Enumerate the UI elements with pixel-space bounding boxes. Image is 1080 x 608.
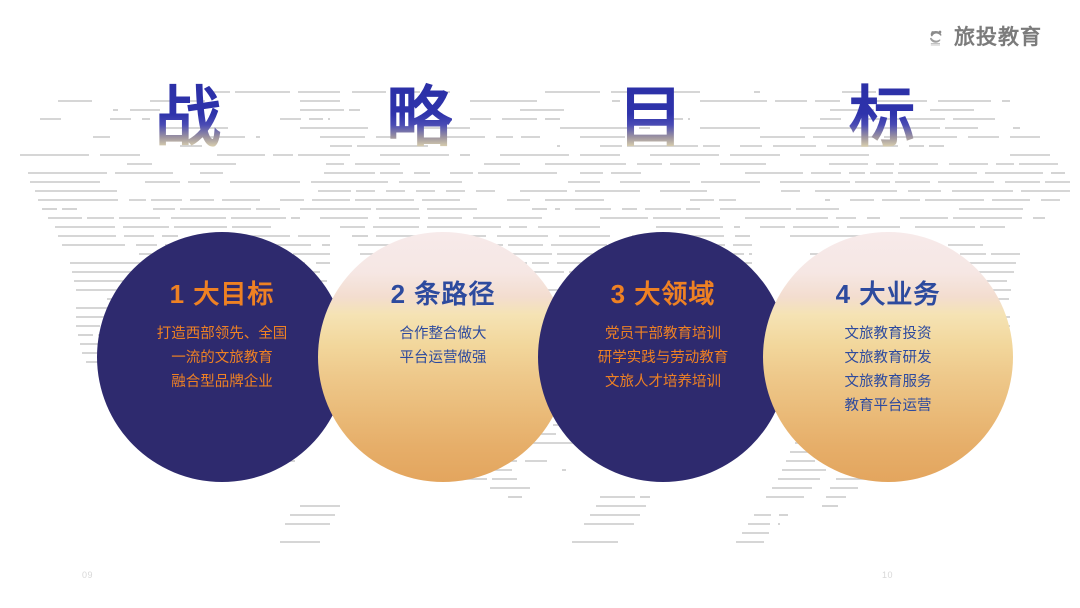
circle-card-1[interactable]: 1 大目标 打造西部领先、全国 一流的文旅教育 融合型品牌企业 (97, 232, 347, 482)
circle-2-title: 2 条路径 (391, 280, 496, 310)
page-title: 战 略 目 标 (155, 78, 915, 158)
circle-2-line-1: 合作整合做大 (400, 322, 487, 346)
circle-1-line-3: 融合型品牌企业 (157, 370, 288, 394)
circle-4-line-1: 文旅教育投资 (845, 322, 932, 346)
circle-3-line-3: 文旅人才培养培训 (598, 370, 729, 394)
circle-3-lines: 党员干部教育培训 研学实践与劳动教育 文旅人才培养培训 (598, 322, 729, 394)
circle-card-2[interactable]: 2 条路径 合作整合做大 平台运营做强 (318, 232, 568, 482)
slide-canvas: 旅投教育 战 略 目 标 1 大目标 打造西部领先、全国 一流的文旅教育 融合型… (0, 0, 1080, 608)
circle-2-lines: 合作整合做大 平台运营做强 (400, 322, 487, 370)
circle-1-title: 1 大目标 (170, 280, 275, 310)
brand-logo: 旅投教育 (927, 27, 1042, 48)
title-char-1: 战 (155, 78, 221, 156)
circle-4-lines: 文旅教育投资 文旅教育研发 文旅教育服务 教育平台运营 (845, 322, 932, 418)
circle-1-line-1: 打造西部领先、全国 (157, 322, 288, 346)
circle-3-title: 3 大领域 (611, 280, 716, 310)
circle-1-line-2: 一流的文旅教育 (157, 346, 288, 370)
circle-4-line-2: 文旅教育研发 (845, 346, 932, 370)
circle-4-line-4: 教育平台运营 (845, 394, 932, 418)
circle-card-4[interactable]: 4 大业务 文旅教育投资 文旅教育研发 文旅教育服务 教育平台运营 (763, 232, 1013, 482)
title-char-2: 略 (386, 78, 452, 156)
circle-4-line-3: 文旅教育服务 (845, 370, 932, 394)
circle-4-title: 4 大业务 (836, 280, 941, 310)
circle-card-3[interactable]: 3 大领域 党员干部教育培训 研学实践与劳动教育 文旅人才培养培训 (538, 232, 788, 482)
page-number-right: 10 (882, 570, 893, 580)
page-number-left: 09 (82, 570, 93, 580)
circle-3-line-1: 党员干部教育培训 (598, 322, 729, 346)
panda-leaf-mark-icon (927, 27, 947, 48)
title-char-4: 标 (849, 78, 915, 156)
circle-1-lines: 打造西部领先、全国 一流的文旅教育 融合型品牌企业 (157, 322, 288, 394)
circle-2-line-2: 平台运营做强 (400, 346, 487, 370)
title-char-3: 目 (618, 78, 684, 156)
brand-wordmark: 旅投教育 (954, 27, 1042, 48)
circle-3-line-2: 研学实践与劳动教育 (598, 346, 729, 370)
